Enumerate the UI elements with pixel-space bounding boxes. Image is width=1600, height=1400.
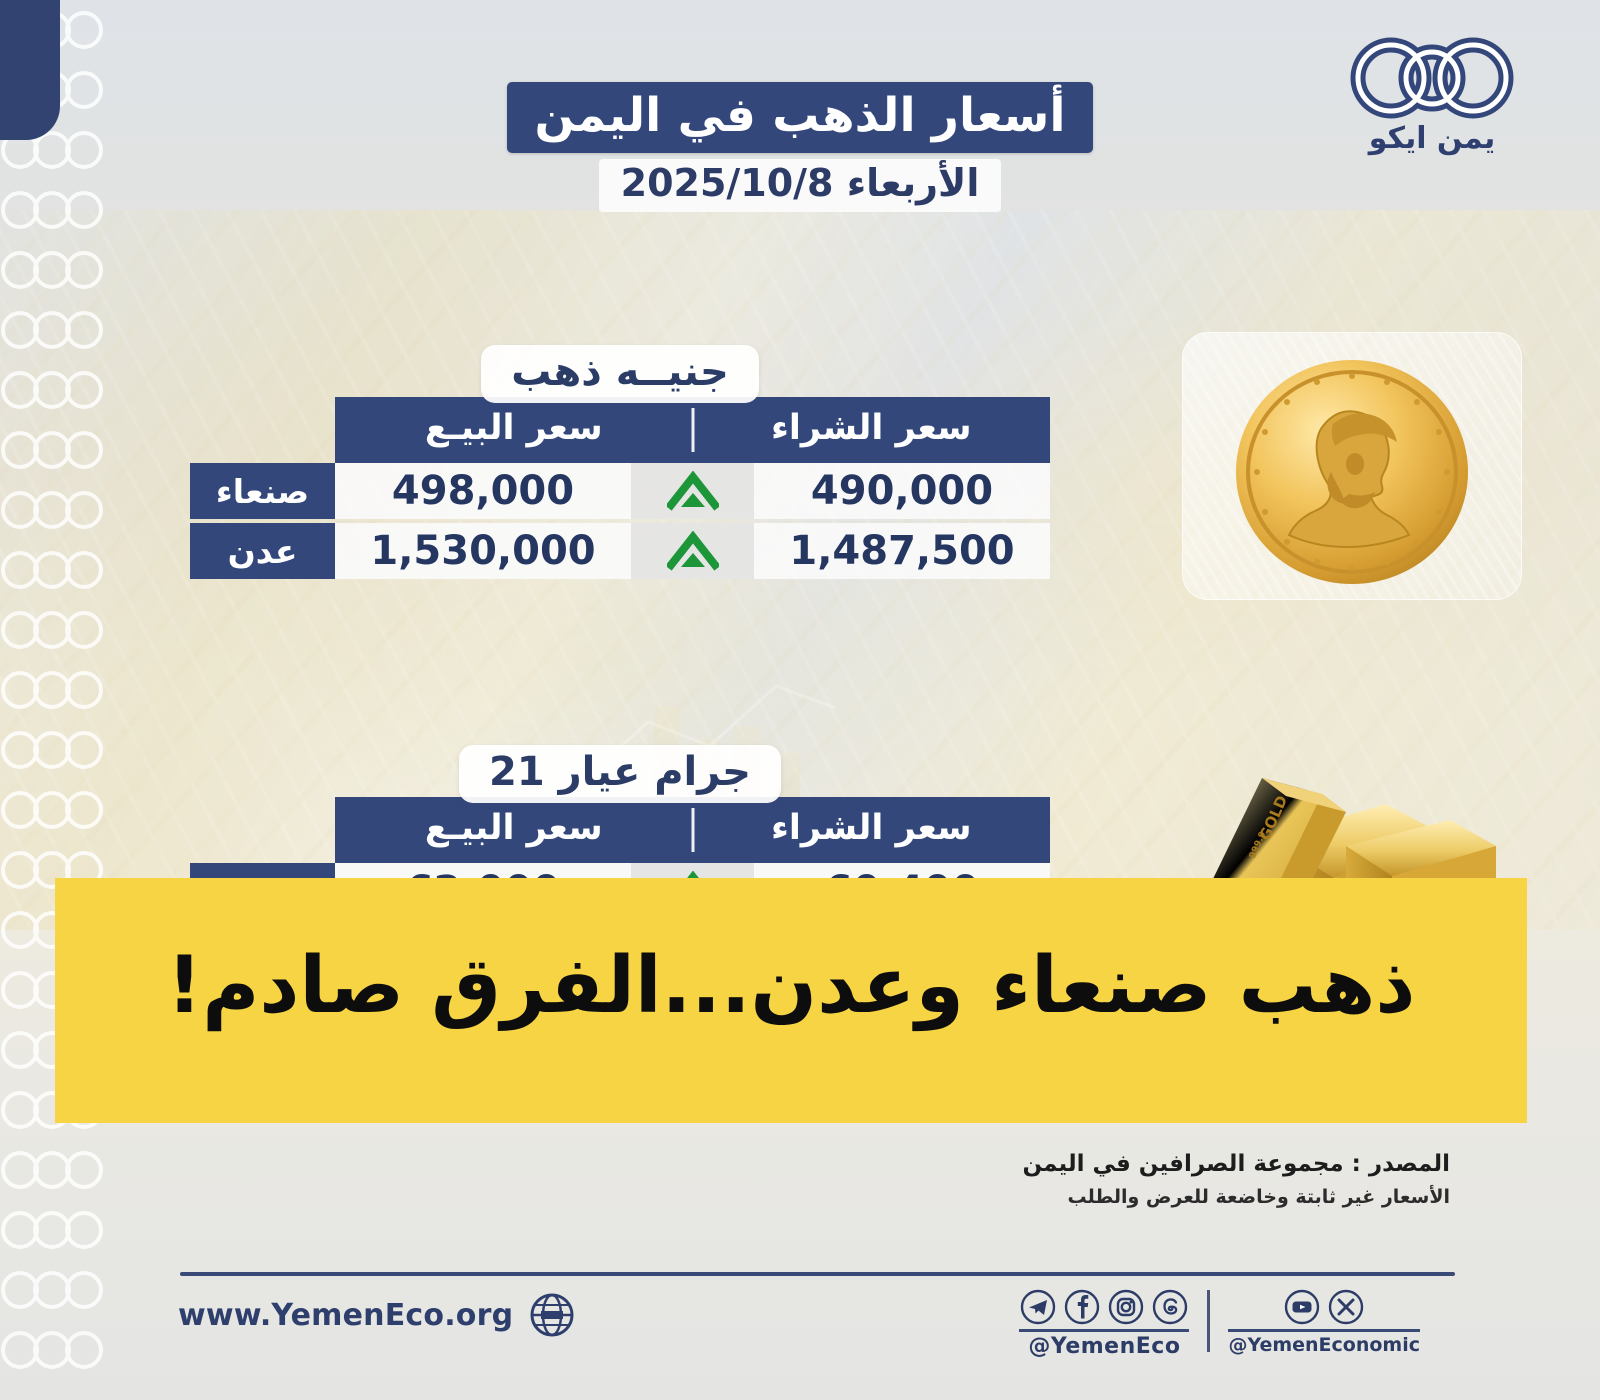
arrow-up-icon bbox=[667, 531, 719, 571]
table-body: 490,000 498,000 صنعاء 1,487,500 bbox=[190, 463, 1050, 579]
facebook-icon[interactable] bbox=[1063, 1288, 1101, 1326]
threads-icon[interactable] bbox=[1151, 1288, 1189, 1326]
header-divider bbox=[691, 808, 694, 852]
cell-sell-price: 498,000 bbox=[335, 463, 631, 519]
footer-divider bbox=[180, 1272, 1455, 1276]
social-underline bbox=[1019, 1329, 1189, 1332]
arrow-up-icon bbox=[667, 471, 719, 511]
cell-trend bbox=[631, 463, 754, 519]
social-group-yemeneconomic: @YemenEconomic bbox=[1228, 1288, 1420, 1356]
social-icon-row bbox=[1283, 1288, 1365, 1326]
x-twitter-icon[interactable] bbox=[1327, 1288, 1365, 1326]
cell-trend bbox=[631, 523, 754, 579]
social-group-divider bbox=[1207, 1290, 1210, 1352]
source-line-primary: المصدر : مجموعة الصرافين في اليمن bbox=[1022, 1148, 1450, 1181]
social-underline bbox=[1228, 1329, 1420, 1332]
column-header-buy: سعر الشراء bbox=[693, 811, 1051, 850]
price-grid: سعر الشراء سعر البيـع 490,000 498,000 صن… bbox=[190, 397, 1050, 579]
source-note: المصدر : مجموعة الصرافين في اليمن الأسعا… bbox=[1022, 1148, 1450, 1212]
social-handle: @YemenEco bbox=[1028, 1334, 1180, 1359]
cell-city: صنعاء bbox=[190, 463, 335, 519]
cell-buy-price: 490,000 bbox=[754, 463, 1050, 519]
source-line-secondary: الأسعار غير ثابتة وخاضعة للعرض والطلب bbox=[1022, 1184, 1450, 1212]
table-title-pill: جرام عيار 21 bbox=[459, 745, 781, 803]
social-links: @YemenEco @YemenEconomic bbox=[1019, 1288, 1420, 1359]
cell-sell-price: 1,530,000 bbox=[335, 523, 631, 579]
table-pill-wrap: جرام عيار 21 bbox=[190, 745, 1050, 803]
infographic-canvas: يمن ايكو أسعار الذهب في اليمن الأربعاء 2… bbox=[0, 0, 1600, 1400]
social-group-yemeneco: @YemenEco bbox=[1019, 1288, 1189, 1359]
page-date: الأربعاء 2025/10/8 bbox=[599, 159, 1002, 212]
social-handle: @YemenEconomic bbox=[1228, 1334, 1420, 1356]
column-header-sell: سعر البيـع bbox=[335, 411, 693, 450]
website-url-text: www.YemenEco.org bbox=[178, 1298, 513, 1333]
social-icon-row bbox=[1019, 1288, 1189, 1326]
youtube-icon[interactable] bbox=[1283, 1288, 1321, 1326]
table-header-row: سعر الشراء سعر البيـع bbox=[335, 397, 1050, 463]
table-header-row: سعر الشراء سعر البيـع bbox=[335, 797, 1050, 863]
header-divider bbox=[691, 408, 694, 452]
cell-buy-price: 1,487,500 bbox=[754, 523, 1050, 579]
table-row: 1,487,500 1,530,000 عدن bbox=[190, 523, 1050, 579]
title-block: أسعار الذهب في اليمن الأربعاء 2025/10/8 bbox=[0, 82, 1600, 212]
globe-icon bbox=[529, 1292, 575, 1338]
column-header-buy: سعر الشراء bbox=[693, 411, 1051, 450]
cell-city: عدن bbox=[190, 523, 335, 579]
instagram-icon[interactable] bbox=[1107, 1288, 1145, 1326]
page-title: أسعار الذهب في اليمن bbox=[507, 82, 1094, 153]
price-table-gold-pound: جنيــه ذهب سعر الشراء سعر البيـع 490,000 bbox=[190, 345, 1050, 579]
table-pill-wrap: جنيــه ذهب bbox=[190, 345, 1050, 403]
gold-coin-icon: coin bbox=[1227, 346, 1477, 596]
column-header-sell: سعر البيـع bbox=[335, 811, 693, 850]
table-title-pill: جنيــه ذهب bbox=[481, 345, 759, 403]
headline-text: ذهب صنعاء وعدن...الفرق صادم! bbox=[167, 944, 1416, 1058]
gold-coin-panel: coin bbox=[1182, 332, 1522, 600]
website-link[interactable]: www.YemenEco.org bbox=[178, 1292, 575, 1338]
telegram-icon[interactable] bbox=[1019, 1288, 1057, 1326]
table-row: 490,000 498,000 صنعاء bbox=[190, 463, 1050, 519]
headline-banner: ذهب صنعاء وعدن...الفرق صادم! bbox=[55, 878, 1527, 1123]
